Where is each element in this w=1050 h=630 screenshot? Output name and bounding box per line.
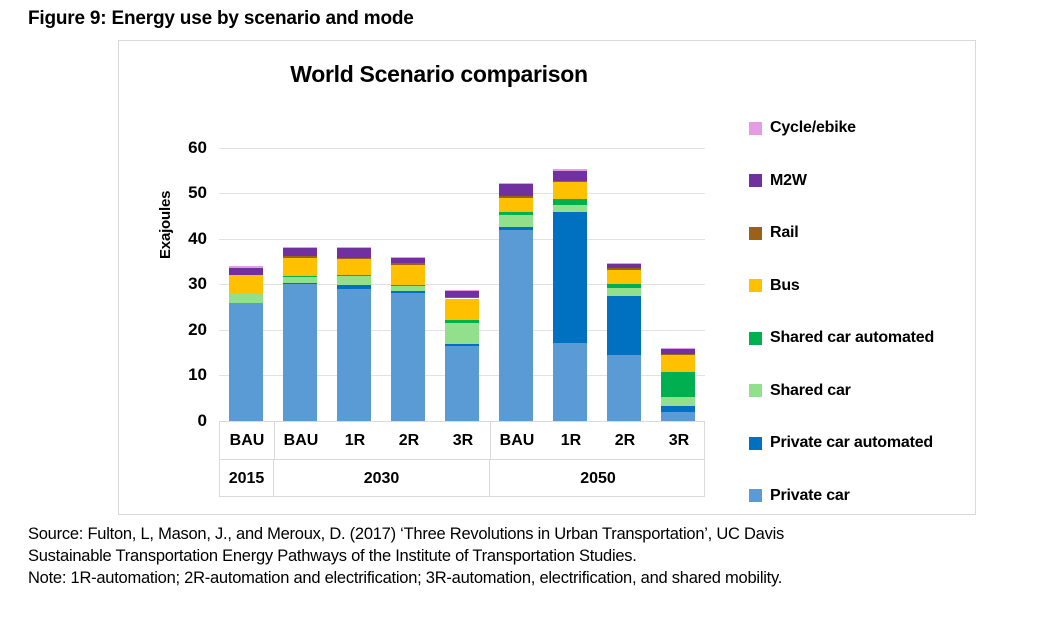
figure-note: Note: 1R-automation; 2R-automation and e… (28, 568, 1028, 590)
x-axis-table: BAUBAU1R2R3RBAU1R2R3R 201520302050 (219, 421, 705, 497)
legend-label: Private car (770, 487, 850, 505)
bar-segment (499, 215, 533, 226)
bar-segment (229, 293, 263, 302)
bar-segment (283, 258, 317, 276)
bar-segment (607, 270, 641, 285)
bar-segment (283, 256, 317, 257)
bar-segment (445, 346, 479, 421)
bar-segment (229, 303, 263, 421)
bar-segment (391, 257, 425, 258)
legend-label: Rail (770, 224, 799, 242)
y-axis-tick-label: 60 (188, 138, 207, 158)
x-axis-scenario-label: 3R (436, 422, 490, 459)
stacked-bar (607, 125, 641, 421)
bar-segment (445, 291, 479, 296)
chart-title: World Scenario comparison (119, 61, 759, 88)
bar-segment (337, 248, 371, 257)
legend-label: Private car automated (770, 434, 933, 452)
bar-segment (283, 247, 317, 248)
bar-segment (607, 264, 641, 269)
legend-label: Bus (770, 277, 800, 295)
legend-swatch-icon (749, 384, 762, 397)
bar-segment (391, 285, 425, 286)
bar-segment (445, 290, 479, 291)
bar-segment (499, 198, 533, 213)
bar-segment (391, 263, 425, 264)
bar-segment (445, 344, 479, 346)
x-axis-scenario-label: BAU (274, 422, 328, 459)
legend-item[interactable]: Bus (749, 277, 800, 295)
bar-segment (445, 323, 479, 343)
bar-segment (499, 227, 533, 230)
y-axis-tick-label: 40 (188, 229, 207, 249)
bar-segment (661, 355, 695, 371)
legend-item[interactable]: Rail (749, 224, 799, 242)
bar-segment (661, 412, 695, 421)
legend-swatch-icon (749, 279, 762, 292)
bar-segment (283, 277, 317, 283)
bar-segment (661, 349, 695, 354)
legend-item[interactable]: Cycle/ebike (749, 119, 856, 137)
bar-segment (499, 183, 533, 184)
bar-segment (607, 284, 641, 288)
x-axis-scenario-label: 1R (328, 422, 382, 459)
bar-segment (553, 199, 587, 205)
bar-segment (553, 182, 587, 198)
bar-segment (391, 293, 425, 421)
x-axis-year-label: 2030 (274, 460, 490, 497)
legend-label: Shared car (770, 382, 851, 400)
bar-segment (661, 406, 695, 411)
bar-segment (229, 266, 263, 267)
bar-segment (661, 397, 695, 406)
y-axis-tick-label: 50 (188, 183, 207, 203)
bar-segment (337, 285, 371, 289)
x-axis-scenario-label: BAU (220, 422, 274, 459)
bar-segment (229, 275, 263, 293)
bar-segment (553, 171, 587, 181)
x-axis-scenario-label: 2R (598, 422, 652, 459)
figure-footnotes: Source: Fulton, L, Mason, J., and Meroux… (28, 524, 1028, 590)
y-axis-tick-label: 0 (198, 411, 207, 431)
bar-segment (391, 258, 425, 263)
legend-item[interactable]: Shared car automated (749, 329, 934, 347)
stacked-bar (499, 125, 533, 421)
plot-area: 0102030405060 (219, 125, 705, 421)
legend-swatch-icon (749, 174, 762, 187)
bar-segment (283, 248, 317, 256)
bar-segment (553, 212, 587, 342)
bar-segment (661, 354, 695, 356)
legend-swatch-icon (749, 332, 762, 345)
bar-segment (337, 258, 371, 260)
stacked-bar (553, 125, 587, 421)
bar-segment (337, 259, 371, 274)
legend-swatch-icon (749, 489, 762, 502)
legend-item[interactable]: Private car automated (749, 434, 933, 452)
bar-segment (661, 348, 695, 349)
bar-segment (229, 268, 263, 276)
stacked-bar (391, 125, 425, 421)
x-axis-scenario-label: 2R (382, 422, 436, 459)
x-axis-group-divider (274, 422, 275, 460)
x-axis-year-label: 2015 (220, 460, 274, 497)
bar-segment (607, 263, 641, 264)
source-line-1: Source: Fulton, L, Mason, J., and Meroux… (28, 524, 1028, 546)
legend-label: M2W (770, 172, 807, 190)
bar-segment (553, 181, 587, 183)
bar-segment (607, 355, 641, 421)
bar-segment (553, 205, 587, 212)
legend-label: Cycle/ebike (770, 119, 856, 137)
y-axis-tick-label: 30 (188, 274, 207, 294)
bar-segment (499, 212, 533, 215)
legend-item[interactable]: Shared car (749, 382, 851, 400)
x-axis-group-divider (490, 422, 491, 460)
x-axis-scenario-label: 3R (652, 422, 706, 459)
bar-segment (499, 196, 533, 197)
bar-segment (391, 291, 425, 293)
source-line-2: Sustainable Transportation Energy Pathwa… (28, 546, 1028, 568)
bar-segment (661, 372, 695, 398)
stacked-bar (661, 125, 695, 421)
stacked-bar (283, 125, 317, 421)
bars-layer (219, 125, 705, 421)
bar-segment (445, 320, 479, 323)
legend-label: Shared car automated (770, 329, 934, 347)
y-axis-title: Exajoules (157, 191, 174, 259)
chart-container: World Scenario comparison Exajoules 0102… (118, 40, 976, 515)
stacked-bar (337, 125, 371, 421)
stacked-bar (445, 125, 479, 421)
x-axis-scenario-label: 1R (544, 422, 598, 459)
bar-segment (553, 169, 587, 170)
x-axis-scenario-label: BAU (490, 422, 544, 459)
bar-segment (499, 230, 533, 421)
x-axis-year-label: 2050 (490, 460, 706, 497)
figure-caption: Figure 9: Energy use by scenario and mod… (28, 8, 414, 30)
bar-segment (391, 286, 425, 291)
bar-segment (283, 284, 317, 421)
legend-swatch-icon (749, 227, 762, 240)
bar-segment (445, 297, 479, 299)
x-axis-scenario-row: BAUBAU1R2R3RBAU1R2R3R (220, 422, 704, 460)
bar-segment (445, 299, 479, 321)
legend-swatch-icon (749, 122, 762, 135)
bar-segment (499, 184, 533, 196)
bar-segment (337, 275, 371, 276)
y-axis-tick-label: 20 (188, 320, 207, 340)
bar-segment (607, 296, 641, 355)
bar-segment (391, 265, 425, 285)
y-axis-tick-label: 10 (188, 365, 207, 385)
bar-segment (283, 283, 317, 285)
bar-segment (607, 288, 641, 296)
bar-segment (607, 268, 641, 269)
bar-segment (553, 343, 587, 421)
x-axis-year-row: 201520302050 (220, 460, 704, 497)
bar-segment (337, 289, 371, 421)
stacked-bar (229, 125, 263, 421)
bar-segment (337, 276, 371, 285)
legend-item[interactable]: M2W (749, 172, 807, 190)
legend-swatch-icon (749, 437, 762, 450)
bar-segment (337, 247, 371, 248)
bar-segment (283, 276, 317, 277)
legend-item[interactable]: Private car (749, 487, 850, 505)
